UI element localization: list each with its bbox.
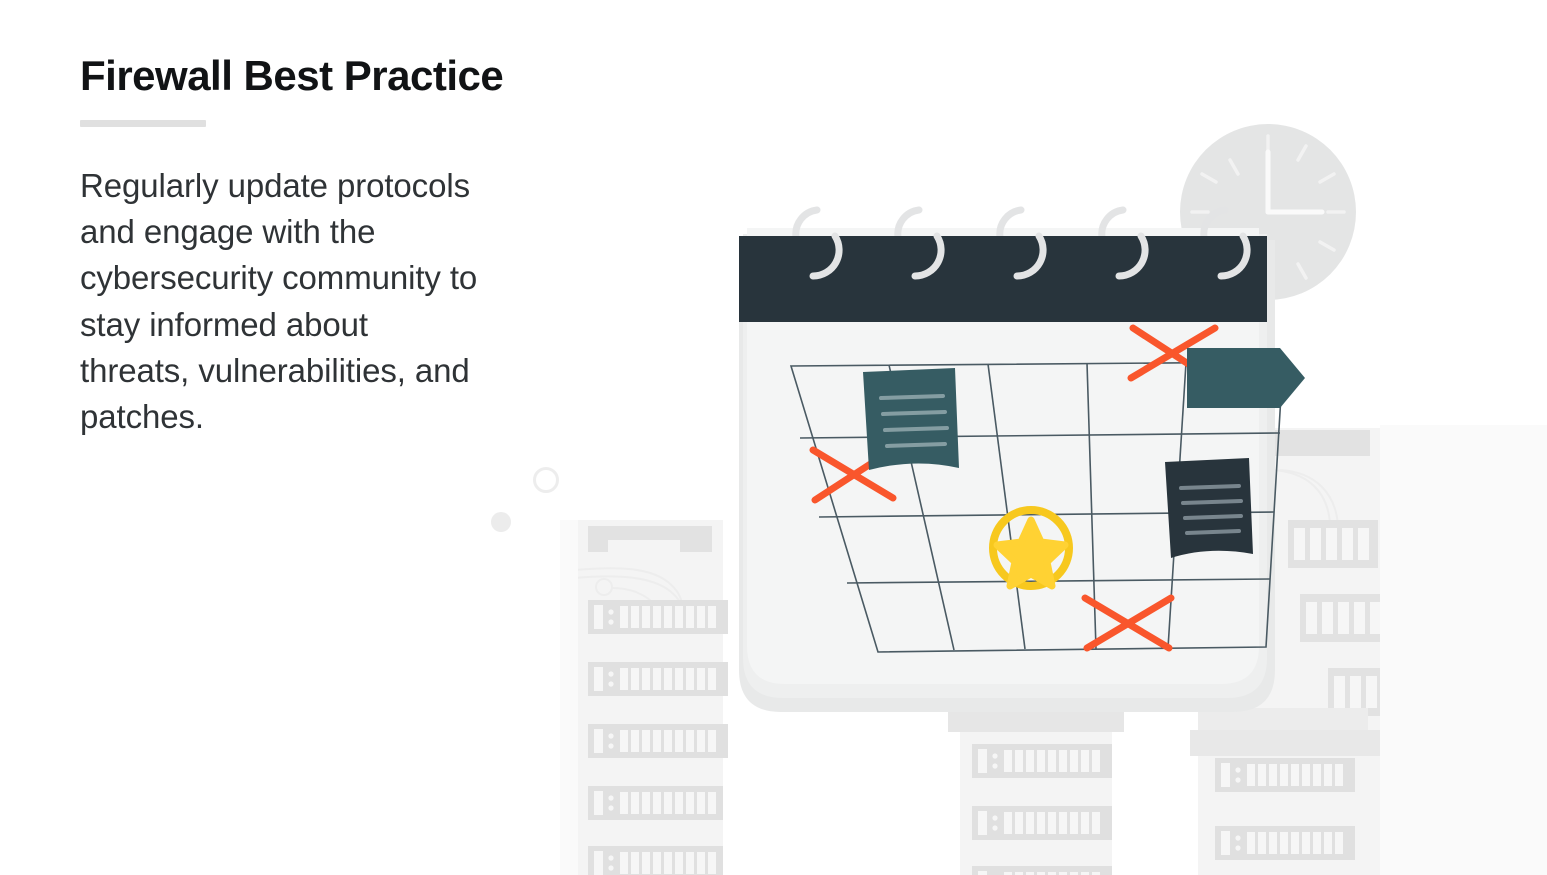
calendar-illustration xyxy=(735,200,1295,760)
background-panel-right xyxy=(1380,425,1547,875)
star-badge xyxy=(993,510,1069,586)
note-dark xyxy=(1165,458,1253,558)
body-paragraph: Regularly update protocols and engage wi… xyxy=(80,163,625,440)
slide-root: Firewall Best Practice Regularly update … xyxy=(0,0,1547,875)
body-line: stay informed about xyxy=(80,302,625,348)
title-divider xyxy=(80,120,206,127)
server-rack-left xyxy=(575,520,728,875)
text-column: Firewall Best Practice Regularly update … xyxy=(80,52,660,440)
background-panel-mid xyxy=(723,760,853,875)
background-panel-left xyxy=(560,520,578,875)
body-line: Regularly update protocols xyxy=(80,163,625,209)
body-line: patches. xyxy=(80,394,625,440)
body-line: threats, vulnerabilities, and xyxy=(80,348,625,394)
note-teal xyxy=(863,368,959,470)
body-line: cybersecurity community to xyxy=(80,255,625,301)
teal-arrow-banner xyxy=(1187,348,1305,408)
page-title: Firewall Best Practice xyxy=(80,52,660,99)
body-line: and engage with the xyxy=(80,209,625,255)
